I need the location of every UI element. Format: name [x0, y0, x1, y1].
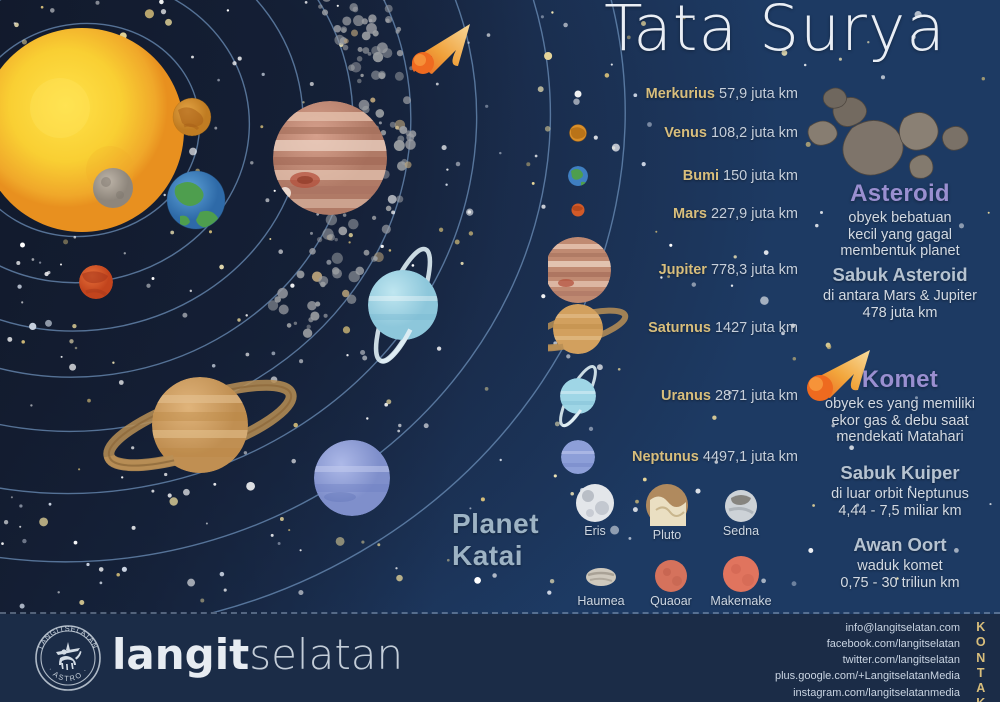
makemake-icon [723, 556, 759, 592]
dwarf-planet-quaoar: Quaoar [636, 560, 706, 608]
dwarf-planet-haumea: Haumea [566, 562, 636, 608]
komet-desc-line: ekor gas & debu saat [800, 413, 1000, 430]
infographic-root: Tata Surya [0, 0, 1000, 702]
dwarf-planet-name: Makemake [706, 594, 776, 608]
dwarf-title-line1: Planet [452, 508, 539, 540]
asteroid-heading: Asteroid [800, 180, 1000, 208]
eris-icon [576, 484, 614, 522]
asteroid-cluster-icon [800, 84, 1000, 182]
komet-description: obyek es yang memiliki ekor gas & debu s… [800, 396, 1000, 446]
planet-row-merkurius: Merkurius 57,9 juta km [646, 86, 798, 102]
dwarf-planet-name: Sedna [706, 524, 776, 538]
planet-row-jupiter: Jupiter 778,3 juta km [659, 262, 798, 278]
sabuk-asteroid-heading: Sabuk Asteroid [800, 264, 1000, 286]
planet-name: Jupiter [659, 262, 707, 278]
komet-desc-line: mendekati Matahari [800, 429, 1000, 446]
dwarf-title-line2: Katai [452, 540, 539, 572]
contact-twitter[interactable]: twitter.com/langitselatan [775, 652, 960, 668]
dwarf-planet-sedna: Sedna [706, 490, 776, 538]
planet-row-saturnus: Saturnus 1427 juta km [648, 320, 798, 336]
sabuk-kuiper-description: di luar orbit Neptunus 4,44 - 7,5 miliar… [800, 486, 1000, 519]
dwarf-planet-pluto: Pluto [632, 484, 702, 542]
dwarf-planet-eris: Eris [560, 484, 630, 538]
planet-distance: 108,2 juta km [711, 125, 798, 141]
planet-distance: 778,3 juta km [711, 262, 798, 278]
planet-name: Neptunus [632, 449, 699, 465]
planet-name: Uranus [661, 388, 711, 404]
dwarf-planet-title: Planet Katai [452, 508, 539, 573]
footer-divider [0, 612, 1000, 614]
planet-row-bumi: Bumi 150 juta km [683, 168, 798, 184]
dwarf-planet-makemake: Makemake [706, 556, 776, 608]
earth-illustration [167, 171, 225, 229]
planet-row-uranus: Uranus 2871 juta km [661, 388, 798, 404]
awan-oort-heading: Awan Oort [800, 534, 1000, 556]
sun-icon [0, 28, 184, 232]
planet-name: Bumi [683, 168, 719, 184]
kontak-letter: K [971, 696, 991, 702]
brand-wordmark: langitselatan [112, 634, 403, 676]
sabuk-asteroid-desc-line: di antara Mars & Jupiter [800, 288, 1000, 305]
dwarf-planet-name: Quaoar [636, 594, 706, 608]
planet-name: Saturnus [648, 320, 711, 336]
komet-block: Komet obyek es yang memiliki ekor gas & … [800, 366, 1000, 446]
asteroid-desc-line: kecil yang gagal [800, 227, 1000, 244]
awan-oort-desc-line: 0,75 - 30 triliun km [800, 575, 1000, 592]
sabuk-asteroid-block: Sabuk Asteroid di antara Mars & Jupiter … [800, 264, 1000, 321]
planet-distance: 2871 juta km [715, 388, 798, 404]
mars-illustration [79, 265, 113, 299]
sabuk-kuiper-desc-line: 4,44 - 7,5 miliar km [800, 503, 1000, 520]
planet-name: Merkurius [646, 86, 715, 102]
pluto-icon [646, 484, 688, 526]
contact-list: info@langitselatan.com facebook.com/lang… [775, 620, 960, 701]
saturn-illustration [101, 369, 299, 481]
brand-bold: langit [112, 630, 249, 679]
planet-distance: 4497,1 juta km [703, 449, 798, 465]
sabuk-asteroid-desc-line: 478 juta km [800, 305, 1000, 322]
planet-row-mars: Mars 227,9 juta km [673, 206, 798, 222]
quaoar-icon [655, 560, 687, 592]
contact-email[interactable]: info@langitselatan.com [775, 620, 960, 636]
sabuk-kuiper-block: Sabuk Kuiper di luar orbit Neptunus 4,44… [800, 462, 1000, 519]
kontak-letter: O [971, 635, 991, 650]
sabuk-kuiper-desc-line: di luar orbit Neptunus [800, 486, 1000, 503]
page-title: Tata Surya [560, 0, 990, 62]
dwarf-planet-name: Pluto [632, 528, 702, 542]
planet-distance: 57,9 juta km [719, 86, 798, 102]
awan-oort-description: waduk komet 0,75 - 30 triliun km [800, 558, 1000, 591]
jupiter-illustration [270, 101, 392, 215]
kontak-letter: K [971, 620, 991, 635]
komet-desc-line: obyek es yang memiliki [800, 396, 1000, 413]
kontak-letter: T [971, 666, 991, 681]
planet-name: Venus [664, 125, 707, 141]
planet-row-venus: Venus 108,2 juta km [664, 125, 798, 141]
planet-name: Mars [673, 206, 707, 222]
dwarf-planet-name: Haumea [566, 594, 636, 608]
mercury-illustration [93, 168, 133, 208]
asteroid-description: obyek bebatuan kecil yang gagal membentu… [800, 210, 1000, 260]
sabuk-asteroid-description: di antara Mars & Jupiter 478 juta km [800, 288, 1000, 321]
planet-row-neptunus: Neptunus 4497,1 juta km [632, 449, 798, 465]
haumea-icon [586, 562, 616, 592]
planet-distance: 227,9 juta km [711, 206, 798, 222]
asteroid-desc-line: membentuk planet [800, 243, 1000, 260]
dwarf-planet-name: Eris [560, 524, 630, 538]
kontak-label: KONTAK [971, 620, 991, 702]
contact-instagram[interactable]: instagram.com/langitselatanmedia [775, 685, 960, 701]
uranus-illustration [366, 243, 442, 366]
kontak-letter: A [971, 681, 991, 696]
awan-oort-block: Awan Oort waduk komet 0,75 - 30 triliun … [800, 534, 1000, 591]
planet-distance: 1427 juta km [715, 320, 798, 336]
kontak-letter: N [971, 651, 991, 666]
awan-oort-desc-line: waduk komet [800, 558, 1000, 575]
planet-distance: 150 juta km [723, 168, 798, 184]
asteroid-desc-line: obyek bebatuan [800, 210, 1000, 227]
komet-heading: Komet [800, 366, 1000, 394]
asteroid-block: Asteroid obyek bebatuan kecil yang gagal… [800, 180, 1000, 260]
contact-gplus[interactable]: plus.google.com/+LangitselatanMedia [775, 668, 960, 684]
sabuk-kuiper-heading: Sabuk Kuiper [800, 462, 1000, 484]
brand-light: selatan [249, 630, 403, 679]
sedna-icon [725, 490, 757, 522]
sagittarius-figure-icon [56, 642, 82, 670]
contact-facebook[interactable]: facebook.com/langitselatan [775, 636, 960, 652]
langitselatan-logo: LANGITSELATAN · ASTRO · [32, 622, 104, 694]
comet-illustration [412, 24, 470, 74]
neptune-illustration [312, 440, 392, 516]
